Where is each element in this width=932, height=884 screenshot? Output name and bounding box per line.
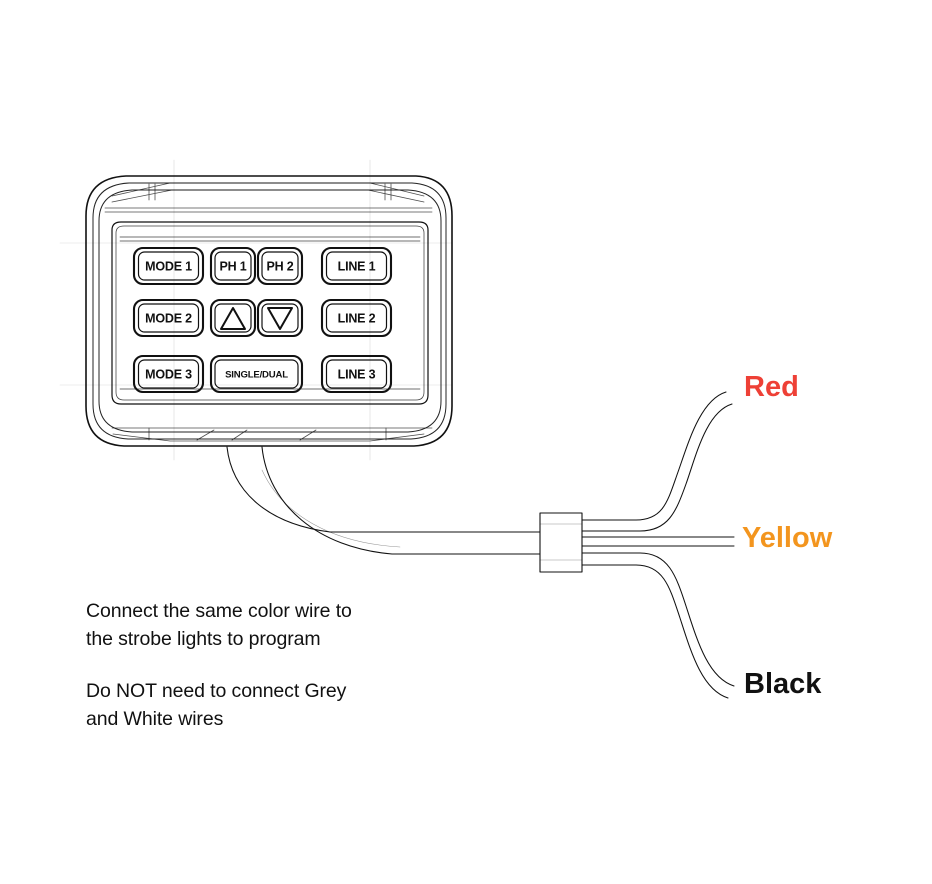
down-arrow-icon	[268, 308, 292, 329]
diagram-canvas: MODE 1 PH 1 PH 2 LINE 1 MODE 2 LINE 2 MO…	[0, 0, 932, 884]
cable-junction-block	[540, 513, 582, 572]
single-dual-label: SINGLE/DUAL	[225, 370, 288, 381]
wire-black	[582, 553, 734, 698]
main-cable	[227, 447, 540, 554]
instruction-skip-line-2: and White wires	[86, 706, 486, 734]
wire-label-yellow: Yellow	[742, 524, 832, 553]
up-arrow-icon	[221, 308, 245, 329]
wire-label-red: Red	[744, 373, 799, 402]
line-1-label: LINE 1	[338, 259, 376, 273]
mode-3-label: MODE 3	[145, 367, 192, 381]
down-arrow-button[interactable]	[258, 300, 302, 336]
line-2-label: LINE 2	[338, 311, 376, 325]
instruction-skip: Do NOT need to connect Grey and White wi…	[86, 678, 486, 733]
wire-yellow	[582, 537, 734, 546]
wire-label-black: Black	[744, 670, 821, 699]
wire-red	[582, 392, 732, 531]
mode-2-label: MODE 2	[145, 311, 192, 325]
line-3-label: LINE 3	[338, 367, 376, 381]
instructions-block: Connect the same color wire to the strob…	[86, 598, 486, 734]
ph-2-label: PH 2	[267, 259, 294, 273]
instruction-connect-line-1: Connect the same color wire to	[86, 598, 486, 626]
button-labels: MODE 1 PH 1 PH 2 LINE 1 MODE 2 LINE 2 MO…	[145, 259, 375, 381]
up-arrow-button[interactable]	[211, 300, 255, 336]
ph-1-label: PH 1	[220, 259, 247, 273]
wiring-diagram-graphic: MODE 1 PH 1 PH 2 LINE 1 MODE 2 LINE 2 MO…	[0, 0, 932, 884]
instruction-connect-line-2: the strobe lights to program	[86, 626, 486, 654]
instruction-connect: Connect the same color wire to the strob…	[86, 598, 486, 653]
cable-inner-lines	[262, 470, 582, 560]
mode-1-label: MODE 1	[145, 259, 192, 273]
instruction-skip-line-1: Do NOT need to connect Grey	[86, 678, 486, 706]
